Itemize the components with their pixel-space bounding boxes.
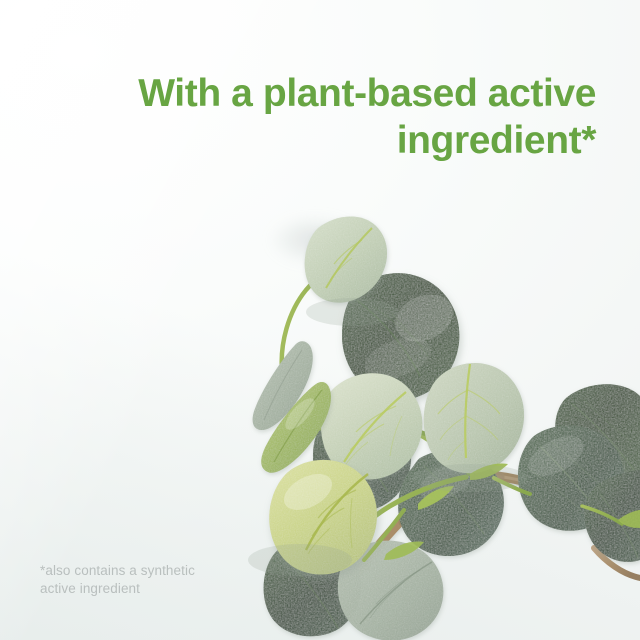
headline-line-2: ingredient* [96,117,596,164]
headline: With a plant-based active ingredient* [96,70,596,164]
surface-shadow [250,205,380,275]
headline-line-1: With a plant-based active [96,70,596,117]
footnote-disclaimer: *also contains a synthetic active ingred… [40,562,195,598]
banner-canvas: With a plant-based active ingredient* *a… [0,0,640,640]
